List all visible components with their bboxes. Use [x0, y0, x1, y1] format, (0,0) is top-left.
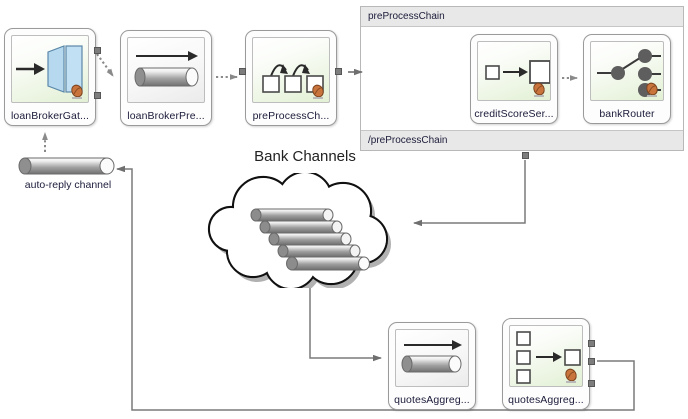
- node-quotes-aggregator[interactable]: quotesAggreg...: [502, 318, 590, 410]
- node-icon-area: [252, 37, 330, 103]
- auto-reply-channel[interactable]: auto-reply channel: [18, 155, 118, 191]
- node-label: quotesAggreg...: [503, 394, 589, 406]
- node-icon-area: [477, 41, 551, 101]
- port-gateway-out-top[interactable]: [94, 47, 101, 54]
- channel-pipe-icon: [396, 330, 469, 387]
- node-loan-broker-gateway[interactable]: loanBrokerGat...: [4, 28, 96, 126]
- port-preprocess-out[interactable]: [335, 68, 342, 75]
- node-label: loanBrokerGat...: [5, 110, 95, 122]
- bean-decorator-icon: [69, 84, 85, 100]
- chain-close-tag-label: /preProcessChain: [361, 130, 683, 150]
- bean-decorator-icon: [563, 368, 579, 384]
- node-icon-area: [395, 329, 469, 387]
- port-aggregator-out-top[interactable]: [588, 340, 595, 347]
- node-preprocess-chain[interactable]: preProcessCh...: [245, 30, 337, 126]
- channel-pipe-icon: [128, 38, 205, 103]
- node-icon-area: [509, 325, 583, 387]
- port-aggregator-out-mid[interactable]: [588, 358, 595, 365]
- node-icon-area: [590, 41, 664, 101]
- node-credit-score-service[interactable]: creditScoreSer...: [470, 34, 558, 124]
- bean-decorator-icon: [531, 82, 547, 98]
- node-label: preProcessCh...: [246, 110, 336, 122]
- bank-channels-title: Bank Channels: [205, 148, 405, 165]
- bean-decorator-icon: [310, 84, 326, 100]
- port-chain-exit[interactable]: [522, 152, 529, 159]
- bank-channels-cloud: [205, 173, 405, 288]
- node-label: bankRouter: [584, 108, 670, 120]
- node-icon-area: [127, 37, 205, 103]
- bean-decorator-icon: [644, 82, 660, 98]
- node-icon-area: [11, 35, 89, 103]
- diagram-canvas: preProcessChain /preProcessChain: [0, 0, 688, 419]
- port-gateway-in-bottom[interactable]: [94, 92, 101, 99]
- auto-reply-channel-label: auto-reply channel: [18, 179, 118, 191]
- node-loan-broker-pre-channel[interactable]: loanBrokerPre...: [120, 30, 212, 126]
- node-label: quotesAggreg...: [389, 394, 475, 406]
- node-quotes-aggregator-channel[interactable]: quotesAggreg...: [388, 322, 476, 410]
- chain-open-tag-label: preProcessChain: [361, 7, 683, 27]
- port-aggregator-out-bottom[interactable]: [588, 380, 595, 387]
- node-label: loanBrokerPre...: [121, 110, 211, 122]
- node-bank-router[interactable]: bankRouter: [583, 34, 671, 124]
- node-label: creditScoreSer...: [471, 108, 557, 120]
- port-preprocess-in[interactable]: [239, 68, 246, 75]
